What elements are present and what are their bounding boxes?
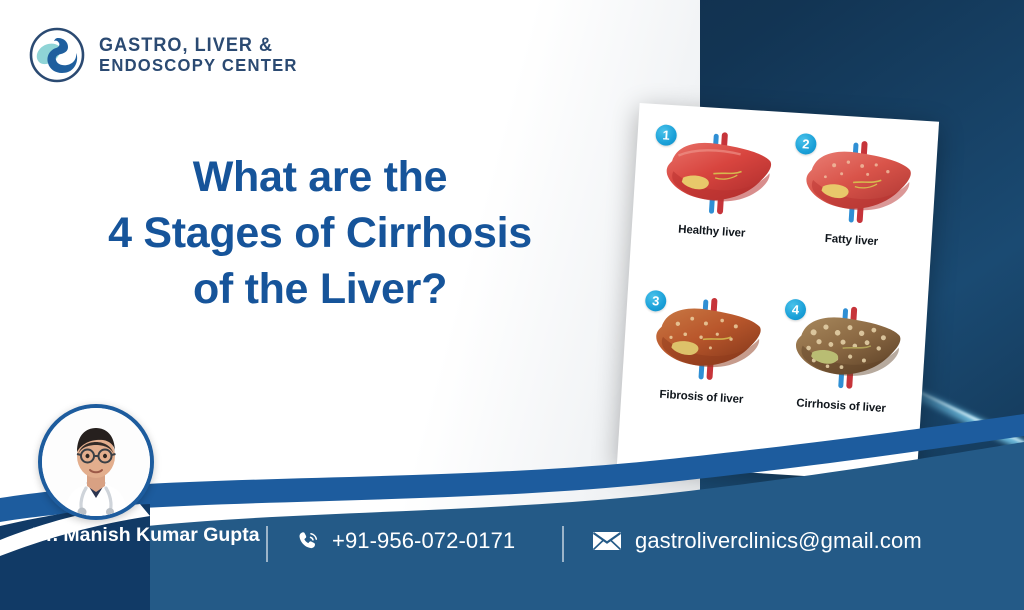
footer-divider-1 <box>266 526 268 562</box>
liver-stomach-circle-icon <box>28 26 86 84</box>
footer-swoosh-graphic <box>0 380 1024 610</box>
brand-line-2: ENDOSCOPY CENTER <box>99 56 298 75</box>
banner-canvas: 1 Healthy liver <box>0 0 1024 610</box>
stage-label: Fatty liver <box>824 233 878 248</box>
stage-label: Healthy liver <box>678 224 746 240</box>
headline-line-1: What are the <box>40 150 600 206</box>
page-title: What are the 4 Stages of Cirrhosis of th… <box>40 150 600 318</box>
brand-logo[interactable]: GASTRO, LIVER & ENDOSCOPY CENTER <box>28 26 308 84</box>
avatar <box>38 404 154 520</box>
email-address: gastroliverclinics@gmail.com <box>635 528 922 554</box>
envelope-icon <box>592 530 622 552</box>
doctor-name: Dr. Manish Kumar Gupta <box>32 524 260 548</box>
stage-1: 1 Healthy liver <box>638 122 788 296</box>
phone-icon <box>296 529 321 554</box>
email-contact[interactable]: gastroliverclinics@gmail.com <box>592 528 922 554</box>
brand-line-1: GASTRO, LIVER & <box>99 36 298 56</box>
brand-logo-text: GASTRO, LIVER & ENDOSCOPY CENTER <box>99 36 308 75</box>
headline-line-3: of the Liver? <box>40 262 600 318</box>
footer-divider-2 <box>562 526 564 562</box>
phone-number: +91-956-072-0171 <box>332 528 515 554</box>
phone-contact[interactable]: +91-956-072-0171 <box>296 528 515 554</box>
stage-2: 2 <box>778 130 928 304</box>
headline-line-2: 4 Stages of Cirrhosis <box>40 206 600 262</box>
doctor-portrait-avatar <box>42 408 150 516</box>
